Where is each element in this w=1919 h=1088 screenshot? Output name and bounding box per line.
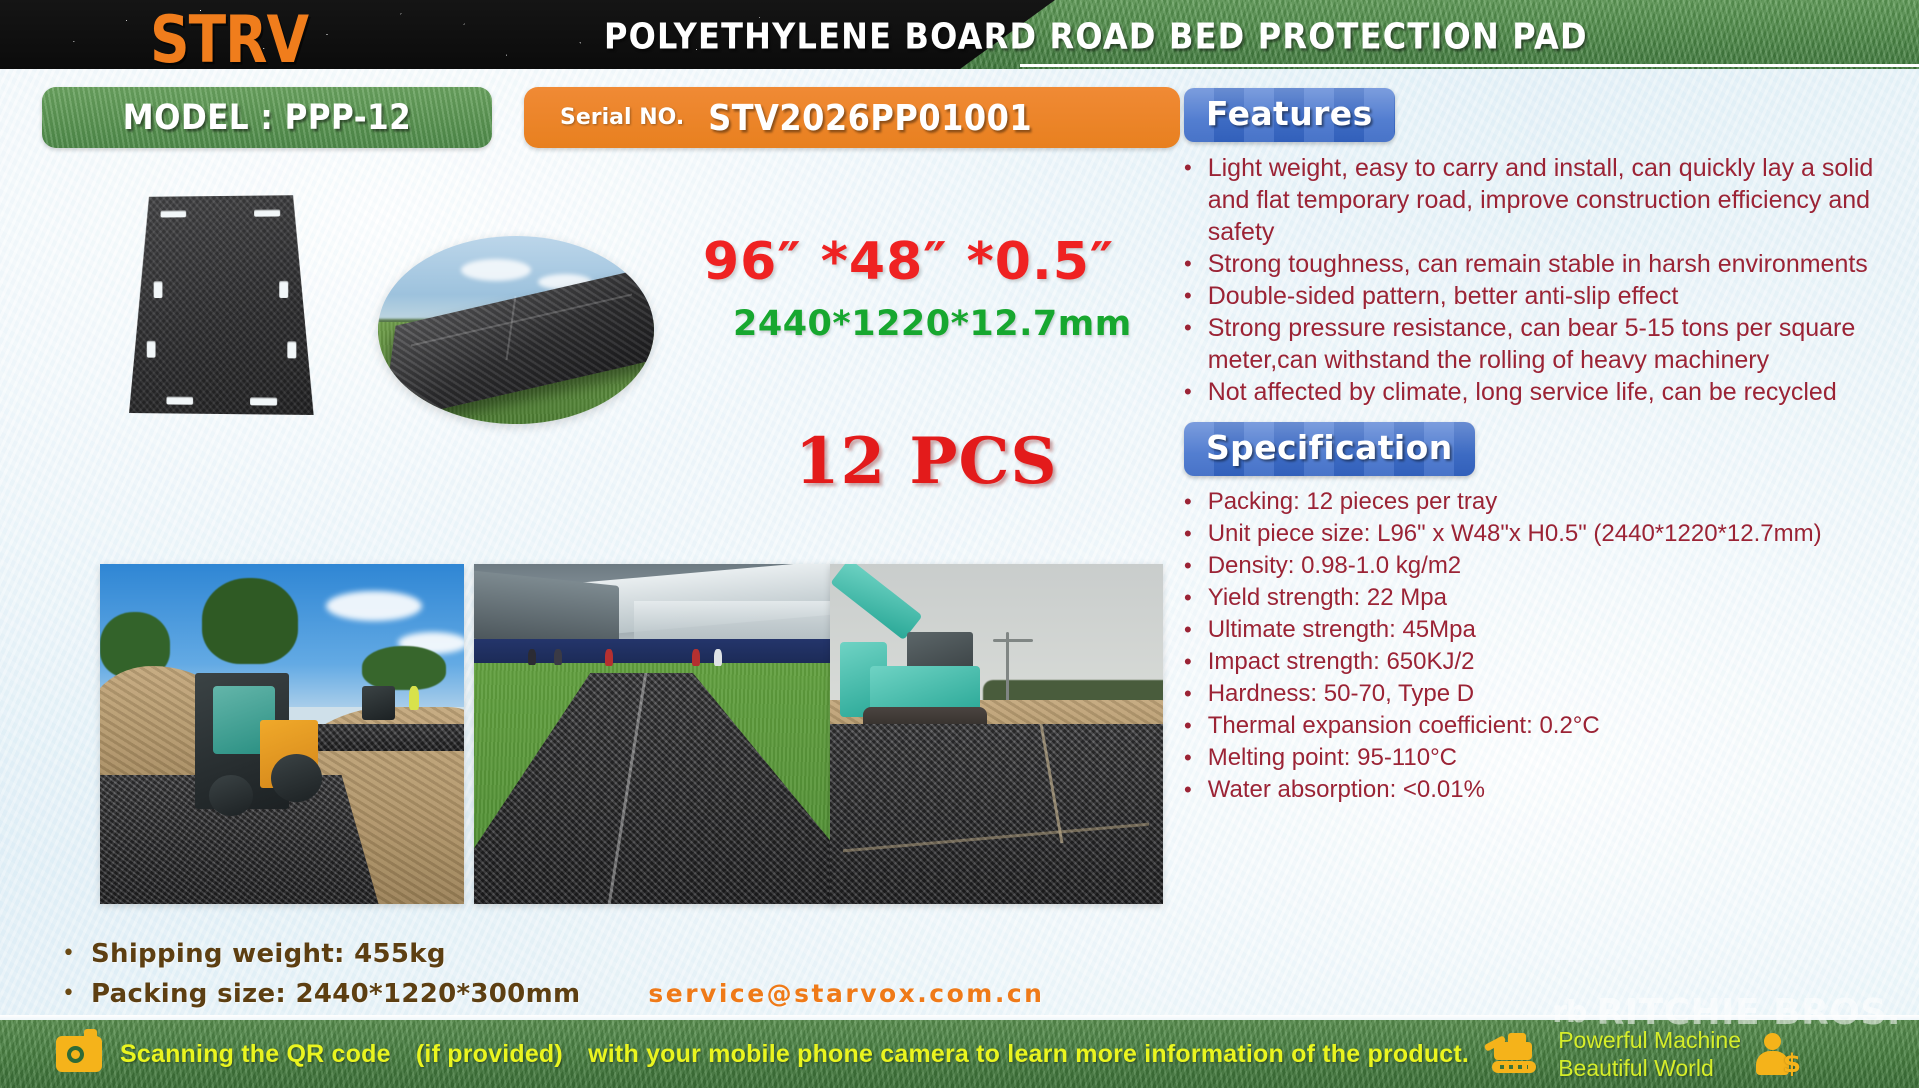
- list-item: • Light weight, easy to carry and instal…: [1184, 152, 1900, 248]
- loader-wheel: [271, 754, 322, 802]
- poster-header: STRV POLYETHYLENE BOARD ROAD BED PROTECT…: [0, 0, 1919, 69]
- spec-text: Hardness: 50-70, Type D: [1208, 678, 1900, 709]
- bullet-dot-icon: •: [1184, 614, 1192, 646]
- serial-badge: Serial NO. STV2026PP01001: [524, 87, 1180, 148]
- bullet-dot-icon: •: [1184, 774, 1192, 806]
- bullet-dot-icon: •: [1184, 710, 1192, 742]
- list-item: • Hardness: 50-70, Type D: [1184, 678, 1900, 710]
- spec-text: Melting point: 95-110°C: [1208, 742, 1900, 773]
- bullet-dot-icon: •: [62, 937, 75, 971]
- spec-text: Impact strength: 650KJ/2: [1208, 646, 1900, 677]
- utility-pole-crossbar: [993, 639, 1033, 642]
- mat-handle-slot: [161, 210, 187, 217]
- list-item: • Strong pressure resistance, can bear 5…: [1184, 312, 1900, 376]
- worker-figure: [692, 649, 700, 666]
- bullet-dot-icon: •: [1184, 312, 1192, 344]
- list-item: • Double-sided pattern, better anti-slip…: [1184, 280, 1900, 312]
- mat-handle-slot: [254, 209, 280, 216]
- bullet-dot-icon: •: [1184, 646, 1192, 678]
- serial-label: Serial NO.: [560, 105, 684, 130]
- list-item: • Density: 0.98-1.0 kg/m2: [1184, 550, 1900, 582]
- application-photo-loader: [100, 564, 464, 904]
- mat-handle-slot: [279, 281, 288, 298]
- features-heading-badge: Features: [1184, 88, 1395, 142]
- bullet-dot-icon: •: [1184, 152, 1192, 184]
- slogan-text-block: Powerful Machine Beautiful World: [1558, 1026, 1741, 1082]
- list-item: • Shipping weight: 455kg: [62, 937, 1122, 971]
- feature-text: Strong toughness, can remain stable in h…: [1208, 248, 1900, 280]
- roof-panel: [634, 601, 837, 638]
- company-slogan-group: Powerful Machine Beautiful World $: [1484, 1026, 1801, 1082]
- mat-ground-cover: [830, 724, 1163, 904]
- person-icon-head: [1764, 1033, 1781, 1050]
- list-item: • Packing size: 2440*1220*300mm service@…: [62, 977, 1122, 1011]
- spec-text: Unit piece size: L96" x W48"x H0.5" (244…: [1208, 518, 1900, 549]
- worker-figure: [714, 649, 722, 666]
- tree-shape: [202, 578, 298, 664]
- worker-figure: [528, 649, 536, 665]
- bullet-dot-icon: •: [62, 977, 75, 1011]
- feature-text: Strong pressure resistance, can bear 5-1…: [1208, 312, 1900, 376]
- camera-icon: [56, 1036, 102, 1072]
- cloud-shape: [461, 259, 531, 281]
- dimension-mm: 2440*1220*12.7mm: [733, 304, 1132, 344]
- right-info-column: Features • Light weight, easy to carry a…: [1184, 88, 1900, 806]
- packing-size-text: Packing size: 2440*1220*300mm: [91, 977, 580, 1011]
- bullet-dot-icon: •: [1184, 582, 1192, 614]
- bullet-dot-icon: •: [1184, 248, 1192, 280]
- spec-text: Thermal expansion coefficient: 0.2°C: [1208, 710, 1900, 741]
- specification-list: • Packing: 12 pieces per tray • Unit pie…: [1184, 486, 1900, 806]
- feature-text: Not affected by climate, long service li…: [1208, 376, 1900, 408]
- poster-footer: Scanning the QR code (if provided) with …: [0, 1020, 1919, 1088]
- list-item: • Strong toughness, can remain stable in…: [1184, 248, 1900, 280]
- person-with-money-icon: $: [1755, 1031, 1801, 1077]
- bullet-dot-icon: •: [1184, 518, 1192, 550]
- contact-email[interactable]: service@starvox.com.cn: [648, 977, 1044, 1011]
- features-list: • Light weight, easy to carry and instal…: [1184, 152, 1900, 408]
- specification-section: Specification • Packing: 12 pieces per t…: [1184, 422, 1900, 806]
- qr-instruction-text: Scanning the QR code (if provided) with …: [120, 1040, 1469, 1069]
- list-item: • Not affected by climate, long service …: [1184, 376, 1900, 408]
- dollar-sign-icon: $: [1783, 1049, 1801, 1079]
- spec-text: Density: 0.98-1.0 kg/m2: [1208, 550, 1900, 581]
- list-item: • Packing: 12 pieces per tray: [1184, 486, 1900, 518]
- dimension-inches: 96″ *48″ *0.5″: [703, 232, 1114, 292]
- mat-handle-slot: [250, 397, 277, 405]
- bullet-dot-icon: •: [1184, 280, 1192, 312]
- list-item: • Ultimate strength: 45Mpa: [1184, 614, 1900, 646]
- excavator-icon-track: [1492, 1061, 1536, 1073]
- excavator-icon: [1484, 1032, 1544, 1076]
- worker-figure: [605, 649, 613, 666]
- excavator-icon-body: [1494, 1042, 1532, 1060]
- mat-roadway-far: [309, 724, 464, 751]
- worker-figure: [554, 649, 562, 665]
- serial-value: STV2026PP01001: [708, 97, 1032, 139]
- worker-figure: [409, 686, 419, 710]
- list-item: • Impact strength: 650KJ/2: [1184, 646, 1900, 678]
- feature-text: Double-sided pattern, better anti-slip e…: [1208, 280, 1900, 312]
- list-item: • Thermal expansion coefficient: 0.2°C: [1184, 710, 1900, 742]
- mat-handle-slot: [154, 281, 163, 298]
- list-item: • Melting point: 95-110°C: [1184, 742, 1900, 774]
- shipping-info-list: • Shipping weight: 455kg • Packing size:…: [62, 937, 1122, 1017]
- bullet-dot-icon: •: [1184, 486, 1192, 518]
- list-item: • Water absorption: <0.01%: [1184, 774, 1900, 806]
- mat-handle-slot: [147, 341, 156, 358]
- features-heading-label: Features: [1206, 94, 1373, 133]
- product-mat-render: [129, 195, 314, 415]
- tree-shape: [362, 646, 446, 690]
- application-photo-excavator: [830, 564, 1163, 904]
- quantity-label: 12 PCS: [795, 424, 1058, 499]
- specification-heading-label: Specification: [1206, 428, 1453, 467]
- spec-text: Packing: 12 pieces per tray: [1208, 486, 1900, 517]
- brand-logo: STRV: [150, 2, 308, 78]
- product-stack-photo: [378, 236, 654, 424]
- list-item: • Unit piece size: L96" x W48"x H0.5" (2…: [1184, 518, 1900, 550]
- slogan-line-2: Beautiful World: [1558, 1054, 1741, 1082]
- slogan-line-1: Powerful Machine: [1558, 1026, 1741, 1054]
- application-photo-stadium: [474, 564, 837, 904]
- loader-wheel: [209, 775, 253, 816]
- feature-text: Light weight, easy to carry and install,…: [1208, 152, 1900, 248]
- background-truck: [362, 686, 395, 720]
- product-spec-poster: STRV POLYETHYLENE BOARD ROAD BED PROTECT…: [0, 0, 1919, 1088]
- cloud-shape: [326, 591, 422, 621]
- spec-text: Yield strength: 22 Mpa: [1208, 582, 1900, 613]
- spec-text: Water absorption: <0.01%: [1208, 774, 1900, 805]
- page-title: POLYETHYLENE BOARD ROAD BED PROTECTION P…: [604, 15, 1588, 58]
- bullet-dot-icon: •: [1184, 742, 1192, 774]
- bullet-dot-icon: •: [1184, 678, 1192, 710]
- bullet-dot-icon: •: [1184, 550, 1192, 582]
- shipping-weight-text: Shipping weight: 455kg: [91, 937, 446, 971]
- model-badge: MODEL : PPP-12: [42, 87, 492, 148]
- header-underline: [1020, 64, 1919, 67]
- bullet-dot-icon: •: [1184, 376, 1192, 408]
- specification-heading-badge: Specification: [1184, 422, 1475, 476]
- mat-surface: [129, 195, 314, 415]
- list-item: • Yield strength: 22 Mpa: [1184, 582, 1900, 614]
- mat-handle-slot: [166, 397, 193, 405]
- spec-text: Ultimate strength: 45Mpa: [1208, 614, 1900, 645]
- mat-handle-slot: [287, 341, 296, 358]
- model-label: MODEL : PPP-12: [123, 97, 411, 137]
